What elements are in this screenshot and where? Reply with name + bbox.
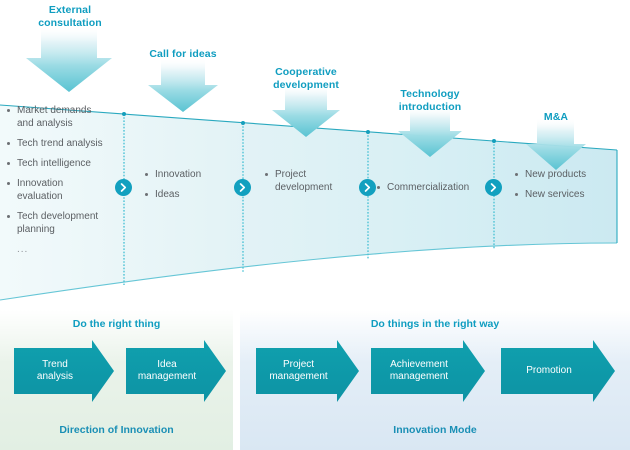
process-step-project-management[interactable]: Project management: [256, 348, 359, 394]
input-arrow-call-for-ideas: [148, 58, 218, 112]
stage-label-technology-introduction: Technology introduction: [380, 88, 480, 114]
stage-label-m-and-a: M&A: [506, 111, 606, 124]
bullet-item: Innovation: [144, 168, 239, 181]
innovation-funnel-diagram: External consultation Call for ideas Coo…: [0, 0, 630, 450]
bullet-item: Tech development planning: [6, 210, 124, 236]
stage-bullets-m-and-a: New products New services: [514, 168, 618, 208]
stage-bullets-technology-introduction: Commercialization: [376, 181, 492, 201]
stage-label-external-consultation: External consultation: [22, 4, 118, 30]
bullet-item: Project development: [264, 168, 364, 194]
panel-footer-direction-of-innovation: Direction of Innovation: [0, 424, 233, 436]
chevron-right-icon-3: [359, 179, 376, 196]
bullet-ellipsis: ...: [6, 243, 124, 256]
bullet-item: Commercialization: [376, 181, 492, 194]
process-step-label: Idea management: [126, 359, 226, 384]
process-step-label: Promotion: [501, 365, 615, 378]
bullet-item: Ideas: [144, 188, 239, 201]
chevron-right-icon-1: [115, 179, 132, 196]
bullet-item: New products: [514, 168, 618, 181]
input-arrow-external-consultation: [26, 26, 112, 92]
process-step-label: Trend analysis: [14, 359, 114, 384]
bullet-item: Tech trend analysis: [6, 137, 124, 150]
bullet-item: Market demands and analysis: [6, 104, 124, 130]
bullet-item: New services: [514, 188, 618, 201]
stage-bullets-call-for-ideas: Innovation Ideas: [144, 168, 239, 208]
panel-title-innovation-mode: Do things in the right way: [240, 318, 630, 330]
chevron-right-icon-4: [485, 179, 502, 196]
process-step-label: Project management: [256, 359, 359, 384]
stage-label-call-for-ideas: Call for ideas: [133, 48, 233, 61]
process-step-idea-management[interactable]: Idea management: [126, 348, 226, 394]
process-step-label: Achievement management: [371, 359, 485, 384]
bullet-item: Tech intelligence: [6, 157, 124, 170]
process-step-trend-analysis[interactable]: Trend analysis: [14, 348, 114, 394]
bullet-item: Innovation evaluation: [6, 177, 124, 203]
panel-footer-innovation-mode: Innovation Mode: [240, 424, 630, 436]
panel-title-direction-of-innovation: Do the right thing: [0, 318, 233, 330]
stage-label-cooperative-development: Cooperative development: [256, 66, 356, 92]
stage-bullets-external-consultation: Market demands and analysis Tech trend a…: [6, 104, 124, 256]
stage-bullets-cooperative-development: Project development: [264, 168, 364, 201]
process-step-promotion[interactable]: Promotion: [501, 348, 615, 394]
process-step-achievement-management[interactable]: Achievement management: [371, 348, 485, 394]
chevron-right-icon-2: [234, 179, 251, 196]
